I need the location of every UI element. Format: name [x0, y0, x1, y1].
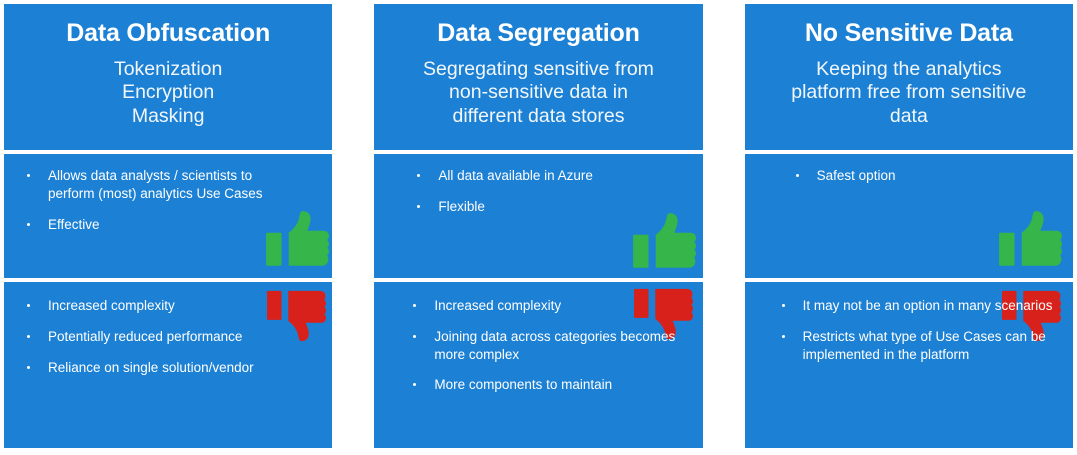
bullet-dot	[782, 335, 785, 338]
bullet-dot	[27, 304, 30, 307]
card-pros-panel-2: All data available in Azure Flexible	[374, 154, 702, 278]
list-item-label: Joining data across categories becomes m…	[434, 329, 675, 362]
bullet-dot	[413, 304, 416, 307]
list-item: Reliance on single solution/vendor	[16, 359, 298, 377]
card-column-data-segregation: Data Segregation Segregating sensitive f…	[374, 4, 702, 448]
bullet-dot	[417, 205, 420, 208]
list-item: Restricts what type of Use Cases can be …	[757, 328, 1053, 364]
list-item: Joining data across categories becomes m…	[386, 328, 684, 364]
list-item: More components to maintain	[386, 376, 684, 394]
list-item-label: Restricts what type of Use Cases can be …	[803, 329, 1046, 362]
card-header-3: No Sensitive Data Keeping the analytics …	[745, 4, 1073, 150]
card-cons-panel-3: It may not be an option in many scenario…	[745, 282, 1073, 448]
comparison-board: Data Obfuscation Tokenization Encryption…	[0, 0, 1077, 455]
card-subtitle-2: Segregating sensitive from non-sensitive…	[423, 58, 654, 129]
list-item: Effective	[16, 216, 298, 234]
card-subtitle-line: Keeping the analytics	[791, 58, 1026, 82]
list-item: Increased complexity	[386, 297, 684, 315]
card-subtitle-line: Tokenization	[114, 58, 222, 82]
card-subtitle-1: Tokenization Encryption Masking	[114, 58, 222, 129]
list-item-label: It may not be an option in many scenario…	[803, 298, 1053, 313]
list-item-label: Increased complexity	[48, 298, 175, 313]
card-subtitle-line: data	[791, 105, 1026, 129]
card-column-no-sensitive-data: No Sensitive Data Keeping the analytics …	[745, 4, 1073, 448]
list-item: Flexible	[386, 198, 688, 216]
card-subtitle-line: non-sensitive data in	[423, 81, 654, 105]
list-item: Increased complexity	[16, 297, 298, 315]
list-item: Allows data analysts / scientists to per…	[16, 167, 298, 203]
cons-list-3: It may not be an option in many scenario…	[757, 297, 1061, 363]
card-header-1: Data Obfuscation Tokenization Encryption…	[4, 4, 332, 150]
bullet-dot	[413, 335, 416, 338]
cons-list-1: Increased complexity Potentially reduced…	[16, 297, 320, 376]
pros-list-2: All data available in Azure Flexible	[386, 167, 690, 216]
list-item-label: Allows data analysts / scientists to per…	[48, 168, 263, 201]
card-subtitle-line: Segregating sensitive from	[423, 58, 654, 82]
list-item: All data available in Azure	[386, 167, 688, 185]
bullet-dot	[27, 366, 30, 369]
card-subtitle-3: Keeping the analytics platform free from…	[791, 58, 1026, 129]
bullet-dot	[796, 174, 799, 177]
card-subtitle-line: Masking	[114, 105, 222, 129]
list-item-label: Safest option	[817, 168, 896, 183]
card-pros-panel-3: Safest option	[745, 154, 1073, 278]
card-title-1: Data Obfuscation	[66, 20, 270, 48]
thumbs-up-icon	[631, 212, 697, 274]
thumbs-up-icon	[997, 210, 1063, 272]
card-subtitle-line: platform free from sensitive	[791, 81, 1026, 105]
card-subtitle-line: different data stores	[423, 105, 654, 129]
list-item: Potentially reduced performance	[16, 328, 298, 346]
list-item: Safest option	[757, 167, 1061, 185]
bullet-dot	[27, 174, 30, 177]
card-column-data-obfuscation: Data Obfuscation Tokenization Encryption…	[4, 4, 332, 448]
card-cons-panel-1: Increased complexity Potentially reduced…	[4, 282, 332, 448]
cons-list-2: Increased complexity Joining data across…	[386, 297, 690, 394]
bullet-dot	[782, 304, 785, 307]
bullet-dot	[27, 223, 30, 226]
card-header-2: Data Segregation Segregating sensitive f…	[374, 4, 702, 150]
card-pros-panel-1: Allows data analysts / scientists to per…	[4, 154, 332, 278]
card-cons-panel-2: Increased complexity Joining data across…	[374, 282, 702, 448]
bullet-dot	[413, 383, 416, 386]
list-item-label: Increased complexity	[434, 298, 561, 313]
pros-list-3: Safest option	[757, 167, 1061, 185]
list-item-label: Reliance on single solution/vendor	[48, 360, 254, 375]
list-item-label: Effective	[48, 217, 100, 232]
card-title-2: Data Segregation	[437, 20, 639, 48]
card-subtitle-line: Encryption	[114, 81, 222, 105]
list-item-label: Potentially reduced performance	[48, 329, 242, 344]
list-item-label: More components to maintain	[434, 377, 612, 392]
list-item-label: Flexible	[438, 199, 485, 214]
list-item-label: All data available in Azure	[438, 168, 593, 183]
bullet-dot	[27, 335, 30, 338]
list-item: It may not be an option in many scenario…	[757, 297, 1053, 315]
bullet-dot	[417, 174, 420, 177]
pros-list-1: Allows data analysts / scientists to per…	[16, 167, 320, 233]
card-title-3: No Sensitive Data	[805, 20, 1013, 48]
